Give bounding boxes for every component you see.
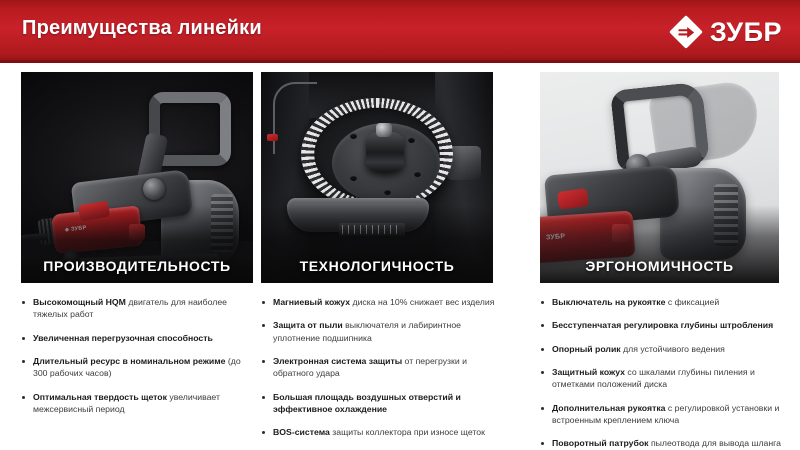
brand-name: ЗУБР	[710, 19, 782, 46]
caption-ergonomics: ЭРГОНОМИЧНОСТЬ	[540, 258, 779, 274]
photo-technology: ТЕХНОЛОГИЧНОСТЬ	[261, 72, 493, 283]
zubr-diamond-arrow-logo-icon	[670, 16, 703, 49]
list-item: Опорный ролик для устойчивого ведения	[540, 343, 786, 355]
list-item: Бесступенчатая регулировка глубины штроб…	[540, 319, 786, 331]
columns-container: ◆ ЗУБР ПРОИЗВОДИТЕЛЬНОСТЬ Высокомощный H…	[0, 63, 800, 450]
header-bar: Преимущества линейки ЗУБР	[0, 0, 800, 63]
photo-ergonomics: ЗУБР ЭРГОНОМИЧНОСТЬ	[540, 72, 779, 283]
list-item: Магниевый кожух диска на 10% снижает вес…	[261, 296, 507, 308]
list-item: Увеличенная перегрузочная способность	[21, 332, 257, 344]
photo-performance: ◆ ЗУБР ПРОИЗВОДИТЕЛЬНОСТЬ	[21, 72, 253, 283]
brand-logo: ЗУБР	[670, 14, 782, 50]
column-ergonomics: ЗУБР ЭРГОНОМИЧНОСТЬ Выключатель на рукоя…	[540, 72, 779, 450]
list-item: Оптимальная твердость щеток увеличивает …	[21, 391, 257, 416]
list-item: Защита от пыли выключателя и лабиринтное…	[261, 319, 507, 344]
bullets-technology: Магниевый кожух диска на 10% снижает вес…	[261, 296, 507, 439]
list-item: Электронная система защиты от перегрузки…	[261, 355, 507, 380]
list-item: Выключатель на рукоятке с фиксацией	[540, 296, 786, 308]
list-item: Дополнительная рукоятка с регулировкой у…	[540, 402, 786, 427]
list-item: Длительный ресурс в номинальном режиме (…	[21, 355, 257, 380]
bullets-performance: Высокомощный HQM двигатель для наиболее …	[21, 296, 257, 415]
list-item: Защитный кожух со шкалами глубины пилени…	[540, 366, 786, 391]
column-performance: ◆ ЗУБР ПРОИЗВОДИТЕЛЬНОСТЬ Высокомощный H…	[21, 72, 261, 415]
list-item: Большая площадь воздушных отверстий и эф…	[261, 391, 507, 416]
list-item: Высокомощный HQM двигатель для наиболее …	[21, 296, 257, 321]
bullets-ergonomics: Выключатель на рукоятке с фиксацией Бесс…	[540, 296, 786, 450]
slide-root: Преимущества линейки ЗУБР	[0, 0, 800, 450]
caption-technology: ТЕХНОЛОГИЧНОСТЬ	[261, 258, 493, 274]
page-title: Преимущества линейки	[22, 17, 262, 40]
list-item: BOS-система защиты коллектора при износе…	[261, 426, 507, 438]
list-item: Поворотный патрубок пылеотвода для вывод…	[540, 437, 786, 450]
caption-performance: ПРОИЗВОДИТЕЛЬНОСТЬ	[21, 258, 253, 274]
column-technology: ТЕХНОЛОГИЧНОСТЬ Магниевый кожух диска на…	[261, 72, 501, 439]
